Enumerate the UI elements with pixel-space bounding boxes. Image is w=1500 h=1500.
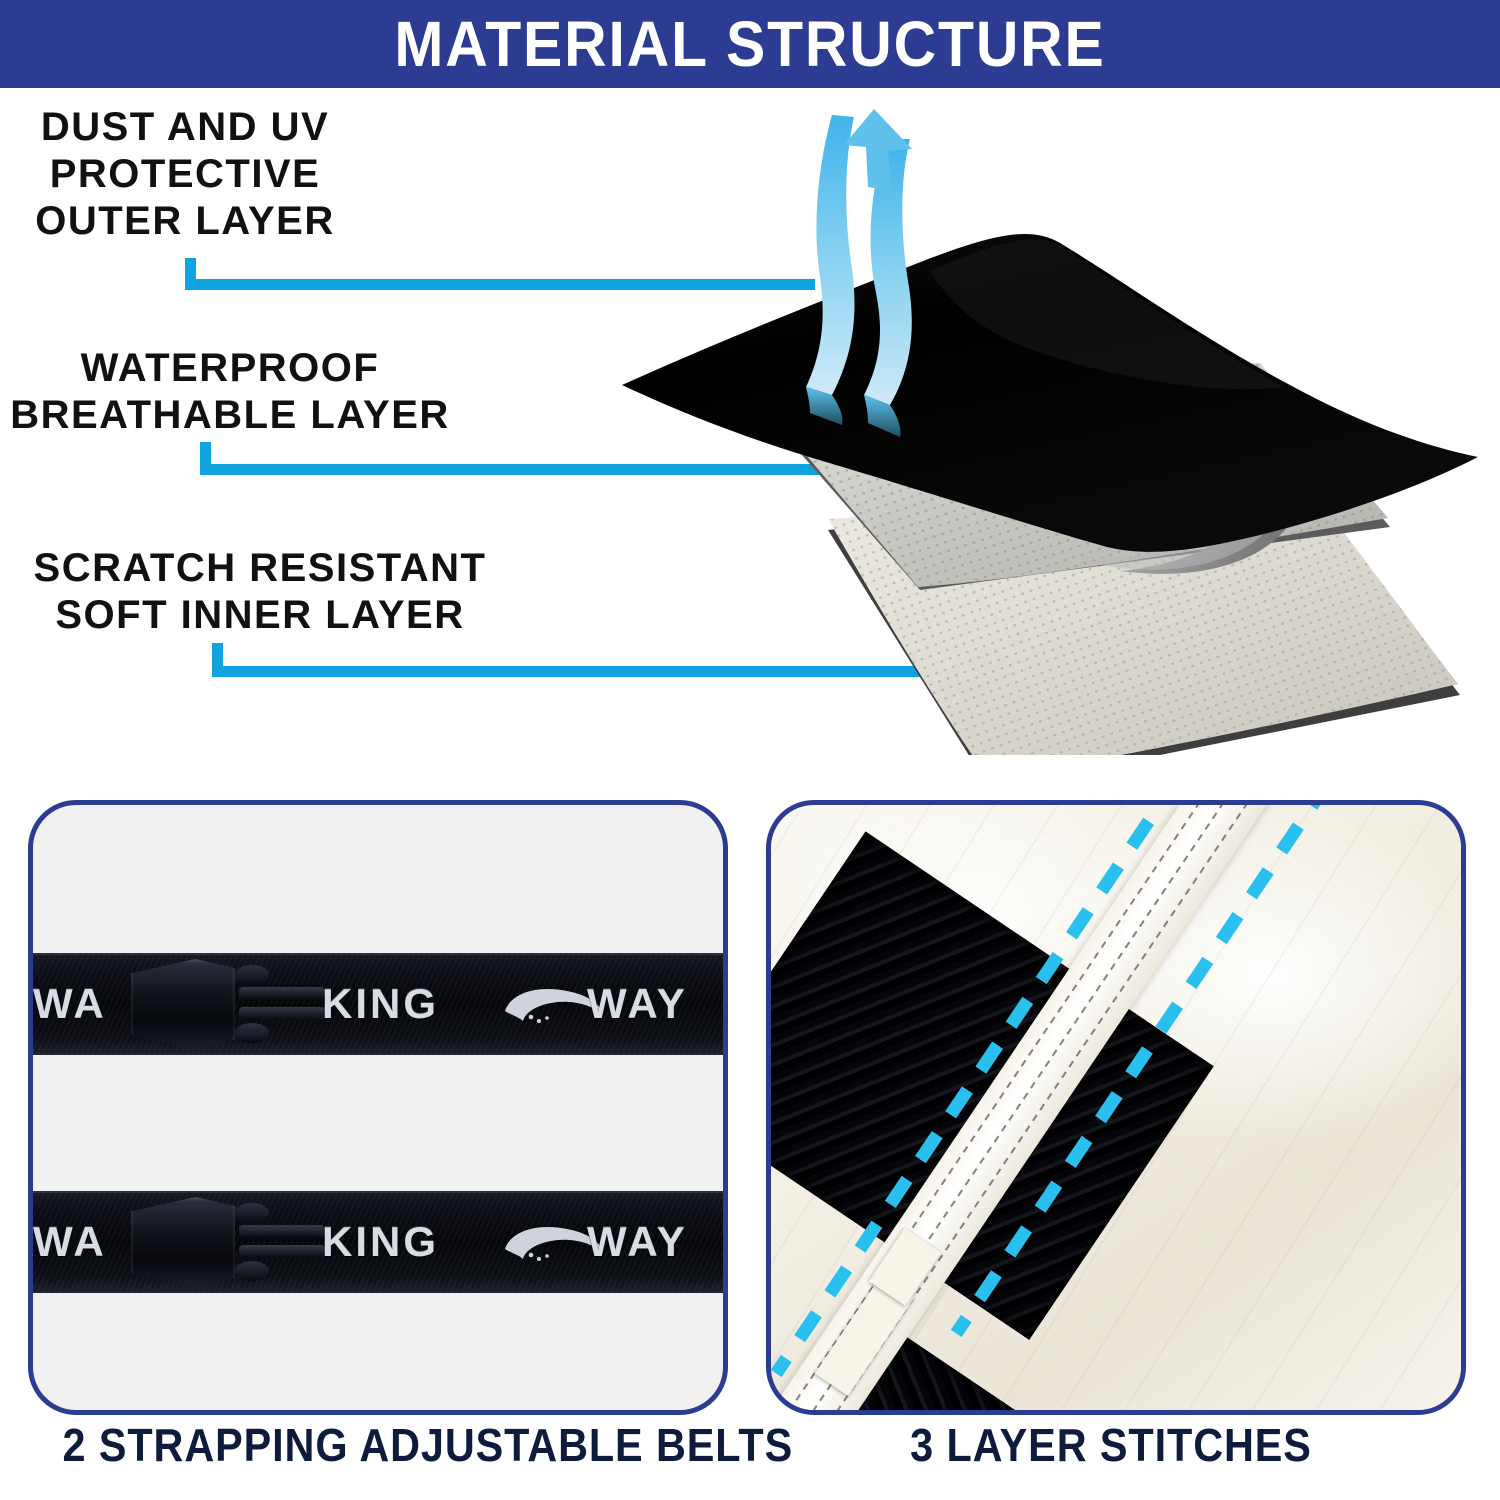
caption-belts: 2 STRAPPING ADJUSTABLE BELTS [63, 1418, 684, 1472]
strap-brand-text-king: KING [322, 955, 439, 1053]
strap-brand-text-way: WAY [587, 955, 688, 1053]
buckle-male-icon [239, 959, 325, 1049]
page-title: MATERIAL STRUCTURE [60, 0, 1440, 88]
strap-brand-text-way: WAY [587, 1193, 688, 1291]
strap-brand-text-king: KING [322, 1193, 439, 1291]
panel-layer-stitches [766, 800, 1466, 1415]
strap-1: WA KING WAY [28, 953, 728, 1055]
layer-label-outer: DUST AND UV PROTECTIVE OUTER LAYER [10, 104, 360, 246]
strap-brand-text-left: WA [33, 955, 107, 1053]
caption-stitches: 3 LAYER STITCHES [801, 1418, 1422, 1472]
buckle-female-icon [131, 959, 235, 1049]
strap-brand-text-left: WA [33, 1193, 107, 1291]
layer-label-middle: WATERPROOF BREATHABLE LAYER [10, 345, 450, 439]
buckle-male-icon [239, 1197, 325, 1287]
buckle-female-icon [131, 1197, 235, 1287]
strap-2: WA KING WAY [28, 1191, 728, 1293]
material-layers-illustration [600, 95, 1500, 755]
infographic-root: MATERIAL STRUCTURE DUST AND UV PROTECTIV… [0, 0, 1500, 1500]
layer-label-inner: SCRATCH RESISTANT SOFT INNER LAYER [10, 545, 510, 639]
panel-strapping-belts: WA KING WAY W [28, 800, 728, 1415]
